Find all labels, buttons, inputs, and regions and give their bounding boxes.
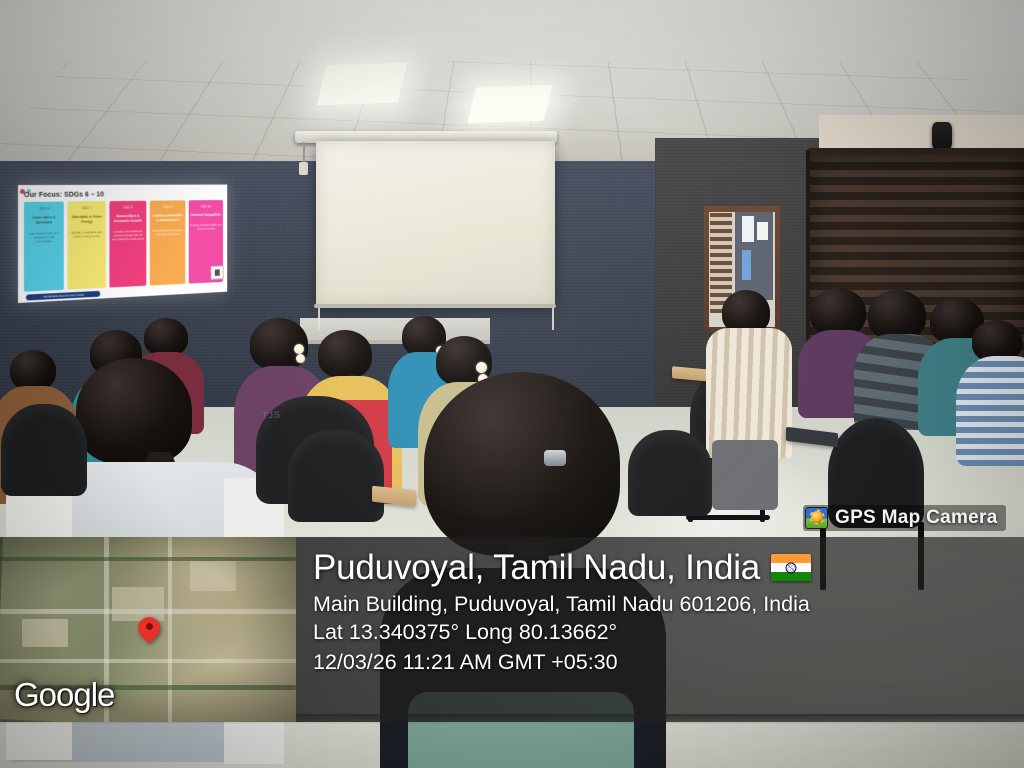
slide-card: SDG 7 Affordable & Clean Energy Reliable… bbox=[68, 201, 106, 289]
slide-card: SDG 9 Industry, Innovation & Infrastruct… bbox=[150, 200, 186, 285]
screen-bottom-bar bbox=[314, 304, 556, 308]
screenshot-root: Our Focus: SDGs 6 – 10 SDG 6 Clean Water… bbox=[0, 0, 1024, 768]
slide-card-body: Inclusive and sustainable economic growt… bbox=[111, 229, 144, 241]
hair-clip bbox=[544, 450, 566, 466]
slide-card: SDG 6 Clean Water & Sanitation Safe drin… bbox=[24, 202, 64, 292]
ceiling-light-panel bbox=[317, 63, 408, 106]
notice-paper bbox=[757, 222, 768, 240]
slide-title: Our Focus: SDGs 6 – 10 bbox=[24, 190, 104, 199]
slide-card: SDG 8 Decent Work & Economic Growth Incl… bbox=[109, 201, 146, 288]
slide-card-body: Safe drinking water and sanitation for a… bbox=[26, 231, 62, 244]
location-timestamp: 12/03/26 11:21 AM GMT +05:30 bbox=[313, 649, 1013, 677]
slide-card-number: SDG 6 bbox=[26, 206, 62, 210]
presentation-slide: Our Focus: SDGs 6 – 10 SDG 6 Clean Water… bbox=[18, 185, 227, 303]
map-thumbnail[interactable]: Google bbox=[0, 537, 296, 722]
slide-card-title: Industry, Innovation & Infrastructure bbox=[152, 213, 184, 223]
slide-footer-pill: Sustainable Development Goals bbox=[26, 291, 100, 301]
chair-brand-label: TJS bbox=[262, 410, 282, 421]
location-address: Main Building, Puduvoyal, Tamil Nadu 601… bbox=[313, 591, 1003, 618]
slide-card-row: SDG 6 Clean Water & Sanitation Safe drin… bbox=[24, 200, 223, 292]
slide-card-number: SDG 10 bbox=[190, 205, 221, 209]
notice-paper bbox=[742, 250, 751, 280]
location-coordinates: Lat 13.340375° Long 80.13662° bbox=[313, 619, 1013, 647]
slide-card-number: SDG 9 bbox=[152, 205, 184, 209]
slide-card-title: Clean Water & Sanitation bbox=[26, 215, 62, 225]
location-text-block: Puduvoyal, Tamil Nadu, India Main Buildi… bbox=[313, 549, 1013, 677]
ceiling-light-panel bbox=[467, 85, 553, 124]
slide-card-number: SDG 8 bbox=[111, 205, 144, 209]
slide-card-body: Reduce inequality within and among count… bbox=[190, 223, 221, 231]
chair bbox=[628, 430, 712, 516]
slide-card-body: Build resilient infrastructure and foste… bbox=[152, 228, 184, 236]
slide-card-body: Reliable, sustainable and modern energy … bbox=[69, 230, 104, 239]
slide-image-placeholder bbox=[211, 265, 224, 279]
slide-card-title: Decent Work & Economic Growth bbox=[111, 214, 144, 224]
chair bbox=[1, 404, 87, 496]
screen-pull-cord bbox=[303, 142, 305, 164]
slide-card-title: Reduced Inequalities bbox=[190, 213, 221, 218]
location-place: Puduvoyal, Tamil Nadu, India bbox=[313, 549, 760, 587]
flag-india-icon bbox=[771, 554, 811, 581]
location-place-line: Puduvoyal, Tamil Nadu, India bbox=[313, 549, 1013, 587]
screen-pull-knob bbox=[299, 162, 308, 175]
slide-card-number: SDG 7 bbox=[69, 206, 104, 210]
screen-leg bbox=[552, 308, 554, 330]
projection-screen bbox=[316, 141, 555, 306]
google-watermark: Google bbox=[14, 676, 114, 714]
slide-footer-label: Sustainable Development Goals bbox=[26, 291, 100, 301]
wall-speaker-icon bbox=[932, 122, 952, 150]
notice-paper bbox=[742, 216, 754, 242]
slide-card-title: Affordable & Clean Energy bbox=[69, 215, 104, 225]
gps-camera-icon bbox=[805, 507, 828, 529]
gps-map-camera-label: GPS Map Camera bbox=[835, 507, 998, 529]
chair bbox=[288, 430, 384, 522]
gps-map-camera-badge: GPS Map Camera bbox=[803, 505, 1006, 531]
